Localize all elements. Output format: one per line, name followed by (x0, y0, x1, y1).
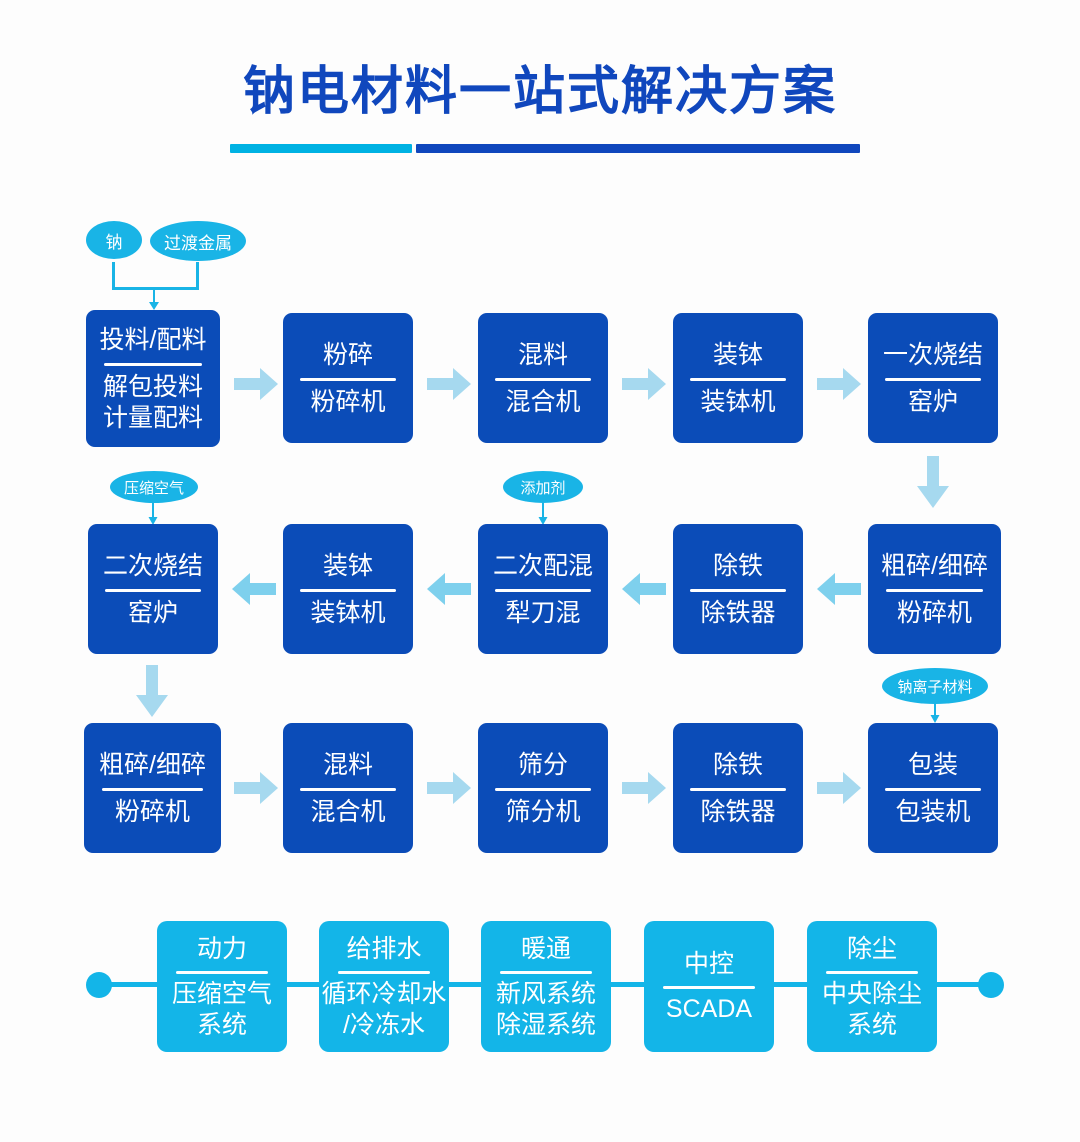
badge-label: 过渡金属 (164, 229, 232, 254)
step-divider (300, 589, 395, 592)
step-subtitle: 装钵机 (700, 387, 775, 418)
step-divider (300, 788, 395, 791)
step-row2-2[interactable]: 装钵 装钵机 (283, 524, 413, 654)
step-row2-5[interactable]: 粗碎/细碎 粉碎机 (868, 524, 1001, 654)
utility-control[interactable]: 中控 SCADA (644, 921, 774, 1052)
step-subtitle: 粉碎机 (897, 598, 972, 629)
utility-subtitle-line2: /冷冻水 (343, 1010, 425, 1041)
step-title: 粗碎/细碎 (99, 749, 206, 781)
utility-divider (176, 971, 269, 974)
badge-transition-metal: 过渡金属 (150, 221, 246, 261)
step-subtitle: 混合机 (310, 797, 385, 828)
step-subtitle: 包装机 (895, 797, 970, 828)
step-subtitle: 粉碎机 (115, 797, 190, 828)
step-subtitle: 除铁器 (700, 598, 775, 629)
step-title: 一次烧结 (883, 339, 983, 371)
step-divider (495, 788, 590, 791)
utility-subtitle-line1: 新风系统 (496, 979, 596, 1010)
arrow-sodium-ion-down-icon (929, 703, 941, 723)
step-title: 混料 (323, 749, 373, 781)
utility-divider (338, 971, 431, 974)
step-divider (885, 788, 980, 791)
step-row1-2[interactable]: 粉碎 粉碎机 (283, 313, 413, 443)
utility-subtitle-line1: 中央除尘 (822, 979, 922, 1010)
arrow-row3-3-to-4-icon (622, 772, 666, 804)
utility-title: 给排水 (346, 933, 421, 965)
step-title: 装钵 (323, 550, 373, 582)
step-divider (690, 788, 785, 791)
step-title: 包装 (908, 749, 958, 781)
step-divider (690, 589, 785, 592)
step-title: 粉碎 (323, 339, 373, 371)
badge-additive: 添加剂 (503, 471, 583, 503)
utility-title: 除尘 (847, 933, 897, 965)
title-underline-blue (416, 144, 860, 153)
diagram-canvas: 钠电材料一站式解决方案 钠 过渡金属 投料/配料 解包投料 计量配料 粉碎 粉碎… (0, 0, 1080, 1142)
rail-dot-left (86, 972, 112, 998)
badge-sodium-ion-material: 钠离子材料 (882, 668, 988, 704)
utility-dust[interactable]: 除尘 中央除尘 系统 (807, 921, 937, 1052)
step-title: 粗碎/细碎 (881, 550, 988, 582)
arrow-row2-to-row3-icon (136, 665, 168, 717)
utility-subtitle-line1: 压缩空气 (172, 979, 272, 1010)
utility-title: 暖通 (521, 933, 571, 965)
arrow-row2-2-to-1-icon (232, 573, 276, 605)
step-title: 除铁 (713, 550, 763, 582)
step-row3-2[interactable]: 混料 混合机 (283, 723, 413, 853)
step-subtitle: 筛分机 (505, 797, 580, 828)
arrow-row2-3-to-2-icon (427, 573, 471, 605)
utility-power[interactable]: 动力 压缩空气 系统 (157, 921, 287, 1052)
badge-label: 钠 (106, 228, 123, 253)
utility-divider (663, 986, 756, 989)
step-subtitle-line2: 计量配料 (103, 403, 203, 434)
step-divider (495, 378, 590, 381)
badge-sodium: 钠 (86, 221, 142, 259)
arrow-row2-5-to-4-icon (817, 573, 861, 605)
step-title: 二次配混 (493, 550, 593, 582)
arrow-row1-3-to-4-icon (622, 368, 666, 400)
step-row1-3[interactable]: 混料 混合机 (478, 313, 608, 443)
utility-subtitle-line2: 系统 (847, 1010, 897, 1041)
utility-subtitle-line2: 系统 (197, 1010, 247, 1041)
badge-label: 压缩空气 (124, 477, 184, 498)
arrow-row3-2-to-3-icon (427, 772, 471, 804)
step-divider (300, 378, 395, 381)
arrow-additive-down-icon (537, 503, 549, 525)
utility-subtitle-line1: SCADA (666, 994, 752, 1025)
step-row2-3[interactable]: 二次配混 犁刀混 (478, 524, 608, 654)
arrow-row1-4-to-5-icon (817, 368, 861, 400)
step-subtitle: 除铁器 (700, 797, 775, 828)
step-row3-1[interactable]: 粗碎/细碎 粉碎机 (84, 723, 221, 853)
step-title: 筛分 (518, 749, 568, 781)
arrow-row3-4-to-5-icon (817, 772, 861, 804)
step-row1-4[interactable]: 装钵 装钵机 (673, 313, 803, 443)
step-row1-5[interactable]: 一次烧结 窑炉 (868, 313, 998, 443)
step-row3-3[interactable]: 筛分 筛分机 (478, 723, 608, 853)
step-subtitle: 犁刀混 (505, 598, 580, 629)
step-subtitle: 窑炉 (908, 387, 958, 418)
utility-subtitle-line2: 除湿系统 (496, 1010, 596, 1041)
step-divider (885, 378, 980, 381)
page-title: 钠电材料一站式解决方案 (0, 62, 1080, 122)
utility-divider (500, 971, 593, 974)
step-subtitle: 粉碎机 (310, 387, 385, 418)
bracket-stem-left (112, 262, 115, 290)
arrow-row1-2-to-3-icon (427, 368, 471, 400)
step-row2-4[interactable]: 除铁 除铁器 (673, 524, 803, 654)
step-row3-5[interactable]: 包装 包装机 (868, 723, 998, 853)
bracket-stem-right (196, 262, 199, 290)
step-row2-1[interactable]: 二次烧结 窑炉 (88, 524, 218, 654)
step-divider (102, 788, 203, 791)
step-divider (886, 589, 984, 592)
bracket-arrow-down-icon (147, 288, 161, 310)
rail-dot-right (978, 972, 1004, 998)
utility-hvac[interactable]: 暖通 新风系统 除湿系统 (481, 921, 611, 1052)
step-divider (105, 589, 200, 592)
step-title: 二次烧结 (103, 550, 203, 582)
utility-divider (826, 971, 919, 974)
step-title: 除铁 (713, 749, 763, 781)
utility-subtitle-line1: 循环冷却水 (322, 979, 447, 1010)
arrow-row1-to-row2-icon (917, 456, 949, 508)
arrow-row1-1-to-2-icon (234, 368, 278, 400)
title-underline-cyan (230, 144, 412, 153)
badge-label: 添加剂 (520, 477, 565, 498)
badge-label: 钠离子材料 (897, 676, 972, 697)
step-row3-4[interactable]: 除铁 除铁器 (673, 723, 803, 853)
step-title: 投料/配料 (100, 324, 207, 356)
arrow-compressed-air-down-icon (147, 503, 159, 525)
step-subtitle: 装钵机 (310, 598, 385, 629)
arrow-row3-1-to-2-icon (234, 772, 278, 804)
utility-water[interactable]: 给排水 循环冷却水 /冷冻水 (319, 921, 449, 1052)
step-title: 装钵 (713, 339, 763, 371)
utility-title: 动力 (197, 933, 247, 965)
step-divider (690, 378, 785, 381)
step-row1-1[interactable]: 投料/配料 解包投料 计量配料 (86, 310, 220, 447)
badge-compressed-air: 压缩空气 (110, 471, 198, 503)
arrow-row2-4-to-3-icon (622, 573, 666, 605)
step-subtitle: 窑炉 (128, 598, 178, 629)
step-subtitle: 混合机 (505, 387, 580, 418)
step-divider (104, 363, 202, 366)
step-title: 混料 (518, 339, 568, 371)
utility-title: 中控 (684, 948, 734, 980)
step-divider (495, 589, 590, 592)
step-subtitle-line1: 解包投料 (103, 372, 203, 403)
